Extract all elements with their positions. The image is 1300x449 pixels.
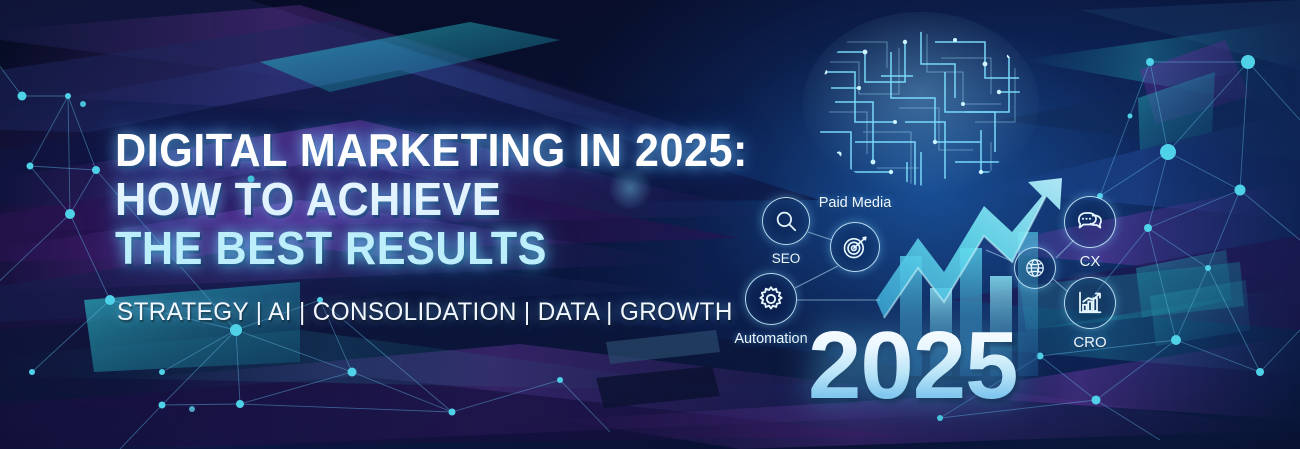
vignette-overlay — [0, 0, 1300, 449]
marketing-banner: SEO Paid Media Automation — [0, 0, 1300, 449]
